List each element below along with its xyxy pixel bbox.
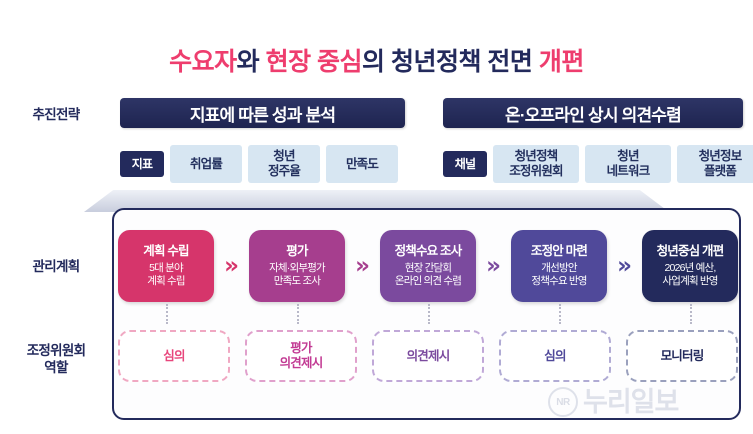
- channel-chip-2-label: 청년정보플랫폼: [699, 149, 742, 179]
- rail-label-strategy: 추진전략: [0, 106, 112, 123]
- indicator-key-chip: 지표: [120, 151, 164, 177]
- committee-role-2-label: 의견제시: [407, 349, 450, 364]
- flow-step-4: 청년중심 개편2026년 예산,사업계획 반영: [642, 230, 738, 302]
- channel-chip-1-label: 청년네트워크: [607, 149, 650, 179]
- flow-arrow-icon-4: »: [607, 255, 642, 278]
- channel-chip-1: 청년네트워크: [585, 145, 671, 183]
- committee-role-3: 심의: [499, 330, 611, 382]
- page-title-segment-0: 수요자: [169, 48, 237, 76]
- page-title-segment-1: 와: [237, 48, 266, 76]
- page-title-segment-3: 의 청년정책 전면: [362, 48, 539, 76]
- flow-step-1: 평가자체·외부평가만족도 조사: [249, 230, 345, 302]
- indicator-chip-2: 만족도: [326, 145, 398, 183]
- strategy-header-right: 온·오프라인 상시 의견수렴: [443, 98, 743, 128]
- committee-role-1-label: 평가의견제시: [280, 341, 323, 371]
- channel-chip-2: 청년정보플랫폼: [677, 145, 753, 183]
- flow-step-3-title: 조정안 마련: [531, 244, 587, 259]
- flow-step-3-subtitle: 개선방안정책수요 반영: [531, 262, 586, 289]
- flow-role-connector-3: [559, 304, 561, 324]
- committee-role-2: 의견제시: [372, 330, 484, 382]
- process-flow-row: 계획 수립5대 분야계획 수립»평가자체·외부평가만족도 조사»정책수요 조사현…: [118, 226, 738, 306]
- flow-step-4-subtitle: 2026년 예산,사업계획 반영: [662, 262, 717, 289]
- page-title-segment-4: 개편: [539, 48, 584, 76]
- flow-role-connector-0: [166, 304, 168, 324]
- infographic-canvas: 수요자와 현장 중심의 청년정책 전면 개편 추진전략 관리계획 조정위원회 역…: [0, 0, 753, 434]
- committee-role-4: 모니터링: [626, 330, 738, 382]
- committee-role-1: 평가의견제시: [245, 330, 357, 382]
- flow-step-0: 계획 수립5대 분야계획 수립: [118, 230, 214, 302]
- committee-role-0-label: 심의: [163, 349, 184, 364]
- rail-label-committee-role-line2: 역할: [0, 359, 112, 376]
- indicator-chip-1-label: 청년정주율: [268, 149, 300, 179]
- flow-step-3: 조정안 마련개선방안정책수요 반영: [511, 230, 607, 302]
- indicator-chip-0-label: 취업률: [190, 157, 222, 172]
- indicator-chip-1: 청년정주율: [248, 145, 320, 183]
- indicator-chip-2-label: 만족도: [346, 157, 378, 172]
- strategy-header-left: 지표에 따른 성과 분석: [120, 98, 405, 128]
- committee-role-4-label: 모니터링: [661, 349, 704, 364]
- flow-step-1-subtitle: 자체·외부평가만족도 조사: [269, 262, 325, 289]
- flow-step-2-subtitle: 현장 간담회온라인 의견 수렴: [395, 262, 461, 289]
- rail-label-committee-role: 조정위원회 역할: [0, 342, 112, 377]
- flow-step-2-title: 정책수요 조사: [395, 244, 462, 259]
- page-title-segment-2: 현장 중심: [266, 48, 362, 76]
- indicator-chip-row: 지표취업률청년정주율만족도: [120, 145, 398, 183]
- rail-label-committee-role-line1: 조정위원회: [0, 342, 112, 359]
- flow-step-0-subtitle: 5대 분야계획 수립: [147, 262, 185, 289]
- flow-arrow-icon-1: »: [214, 255, 249, 278]
- flow-step-4-title: 청년중심 개편: [657, 244, 724, 259]
- channel-chip-row: 채널청년정책조정위원회청년네트워크청년정보플랫폼: [443, 145, 753, 183]
- flow-step-2: 정책수요 조사현장 간담회온라인 의견 수렴: [380, 230, 476, 302]
- flow-step-0-title: 계획 수립: [143, 244, 188, 259]
- channel-chip-0: 청년정책조정위원회: [493, 145, 579, 183]
- flow-arrow-icon-2: »: [345, 255, 380, 278]
- flow-role-connector-2: [428, 304, 430, 324]
- committee-role-0: 심의: [118, 330, 230, 382]
- flow-role-connector-1: [297, 304, 299, 324]
- committee-role-row: 심의평가의견제시의견제시심의모니터링: [118, 328, 738, 384]
- flow-role-connector-4: [690, 304, 692, 324]
- flow-step-1-title: 평가: [286, 244, 307, 259]
- channel-key-chip: 채널: [443, 151, 487, 177]
- rail-label-management-plan: 관리계획: [0, 258, 112, 275]
- committee-role-3-label: 심의: [544, 349, 565, 364]
- page-title: 수요자와 현장 중심의 청년정책 전면 개편: [0, 42, 753, 78]
- indicator-chip-0: 취업률: [170, 145, 242, 183]
- channel-chip-0-label: 청년정책조정위원회: [509, 149, 563, 179]
- flow-arrow-icon-3: »: [476, 255, 511, 278]
